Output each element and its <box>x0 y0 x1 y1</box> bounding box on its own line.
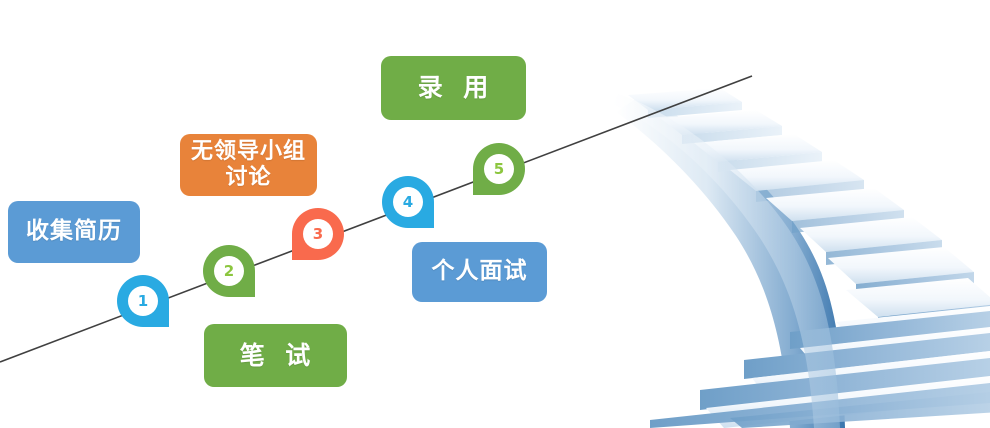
step-label-written-test[interactable]: 笔 试 <box>204 324 347 387</box>
step-label-text: 录 用 <box>418 73 489 103</box>
step-label-hire[interactable]: 录 用 <box>381 56 526 120</box>
step-marker-3[interactable]: 3 <box>292 208 344 260</box>
step-label-leaderless-group-discussion[interactable]: 无领导小组 讨论 <box>180 134 317 196</box>
step-label-individual-interview[interactable]: 个人面试 <box>412 242 547 302</box>
pin-hole <box>303 219 333 249</box>
pin-hole <box>393 187 423 217</box>
pin-hole <box>484 154 514 184</box>
step-marker-4[interactable]: 4 <box>382 176 434 228</box>
pin-hole <box>128 286 158 316</box>
diagram-canvas: 收集简历 1 笔 试 2 无领导小组 讨论 3 个人面试 4 录 用 5 <box>0 0 990 428</box>
step-marker-2[interactable]: 2 <box>203 245 255 297</box>
step-label-text: 个人面试 <box>432 258 528 285</box>
step-marker-1[interactable]: 1 <box>117 275 169 327</box>
step-label-collect-resume[interactable]: 收集简历 <box>8 201 140 263</box>
step-marker-5[interactable]: 5 <box>473 143 525 195</box>
step-label-text: 无领导小组 讨论 <box>191 139 306 191</box>
pin-hole <box>214 256 244 286</box>
step-label-text: 收集简历 <box>26 218 122 245</box>
step-label-text: 笔 试 <box>240 341 311 371</box>
